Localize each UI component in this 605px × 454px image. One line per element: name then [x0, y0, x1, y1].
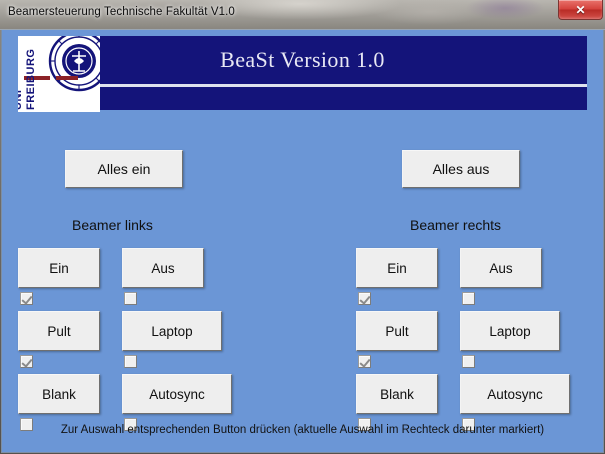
banner-primary-band: BeaSt Version 1.0: [18, 36, 587, 84]
close-icon[interactable]: ✕: [558, 0, 603, 20]
left-pult-button[interactable]: Pult: [18, 311, 100, 351]
left-laptop-button[interactable]: Laptop: [122, 311, 222, 351]
logo-wordmark: UNI FREIBURG: [20, 80, 54, 110]
footer-hint: Zur Auswahl entsprechenden Button drücke…: [2, 424, 603, 436]
right-autosync-button[interactable]: Autosync: [460, 374, 570, 414]
heading-beamer-left: Beamer links: [72, 217, 153, 233]
right-aus-selection-indicator[interactable]: [462, 292, 475, 305]
university-seal-icon: [48, 36, 100, 92]
window-title: Beamersteuerung Technische Fakultät V1.0: [8, 6, 235, 18]
right-laptop-button[interactable]: Laptop: [460, 311, 560, 351]
logo-line-freiburg: FREIBURG: [25, 49, 37, 110]
logo-red-bar-right: [56, 76, 78, 80]
left-blank-button[interactable]: Blank: [18, 374, 100, 414]
left-ein-button[interactable]: Ein: [18, 248, 100, 288]
banner-secondary-band: [18, 87, 587, 110]
client-area: BeaSt Version 1.0: [1, 30, 604, 453]
header-banner: BeaSt Version 1.0: [18, 36, 587, 110]
logo-line-uni: UNI: [18, 90, 24, 110]
app-title: BeaSt Version 1.0: [220, 47, 385, 73]
right-blank-button[interactable]: Blank: [356, 374, 438, 414]
application-window: Beamersteuerung Technische Fakultät V1.0…: [0, 0, 605, 454]
left-laptop-selection-indicator[interactable]: [124, 355, 137, 368]
right-aus-button[interactable]: Aus: [460, 248, 542, 288]
left-aus-button[interactable]: Aus: [122, 248, 204, 288]
window-titlebar[interactable]: Beamersteuerung Technische Fakultät V1.0…: [0, 0, 605, 30]
right-pult-selection-indicator[interactable]: [358, 355, 371, 368]
heading-beamer-right: Beamer rechts: [410, 217, 501, 233]
right-pult-button[interactable]: Pult: [356, 311, 438, 351]
uni-freiburg-logo: UNI FREIBURG: [18, 36, 100, 112]
left-aus-selection-indicator[interactable]: [124, 292, 137, 305]
left-autosync-button[interactable]: Autosync: [122, 374, 232, 414]
right-laptop-selection-indicator[interactable]: [462, 355, 475, 368]
all-on-button[interactable]: Alles ein: [65, 150, 183, 188]
left-pult-selection-indicator[interactable]: [20, 355, 33, 368]
right-ein-button[interactable]: Ein: [356, 248, 438, 288]
close-glyph: ✕: [575, 4, 585, 16]
left-ein-selection-indicator[interactable]: [20, 292, 33, 305]
right-ein-selection-indicator[interactable]: [358, 292, 371, 305]
all-off-button[interactable]: Alles aus: [402, 150, 520, 188]
